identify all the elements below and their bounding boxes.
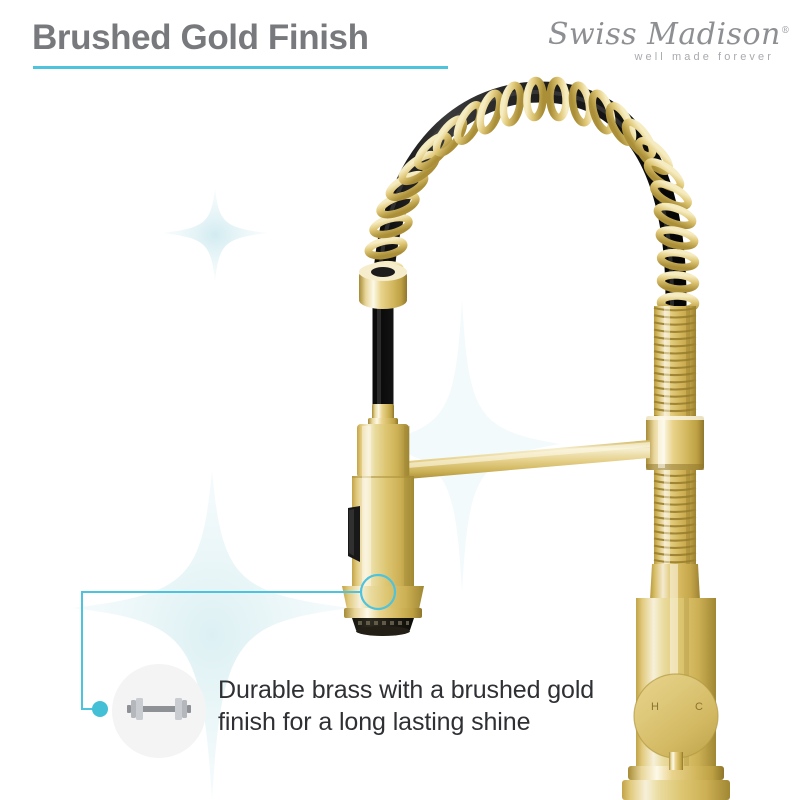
- faucet-spray-head: [342, 424, 424, 636]
- registered-trademark-icon: ®: [781, 26, 791, 36]
- callout-end-dot: [92, 701, 108, 717]
- handle-label-cold: C: [695, 701, 703, 713]
- page-title: Brushed Gold Finish: [32, 18, 369, 58]
- feature-description: Durable brass with a brushed gold finish…: [218, 674, 628, 738]
- brand-name: Swiss Madison®: [548, 20, 778, 50]
- faucet-coiled-column: [654, 306, 696, 568]
- faucet-spring-hose: [379, 92, 676, 410]
- faucet-horizontal-arm: [386, 440, 650, 480]
- product-feature-slide: H C Brushed Gold Finish Swiss Madison® w…: [0, 0, 800, 800]
- brand-logo: Swiss Madison® well made forever: [548, 20, 778, 78]
- handle-label-hot: H: [651, 701, 659, 713]
- dumbbell-icon: [126, 689, 192, 729]
- faucet-arm-joint-collar: [646, 416, 704, 470]
- faucet-spring-coil: [363, 80, 696, 310]
- feature-callout-row: Durable brass with a brushed gold finish…: [112, 662, 632, 758]
- sparkle-medium-icon: [364, 300, 560, 592]
- title-underline: [33, 66, 448, 69]
- callout-highlight-circle: [361, 575, 395, 609]
- sparkle-small-icon: [162, 188, 268, 282]
- brand-tagline: well made forever: [548, 51, 774, 63]
- faucet-hose-connector: [359, 263, 407, 426]
- faucet-base-body: H C: [622, 564, 730, 800]
- brand-name-text: Swiss Madison: [548, 17, 781, 52]
